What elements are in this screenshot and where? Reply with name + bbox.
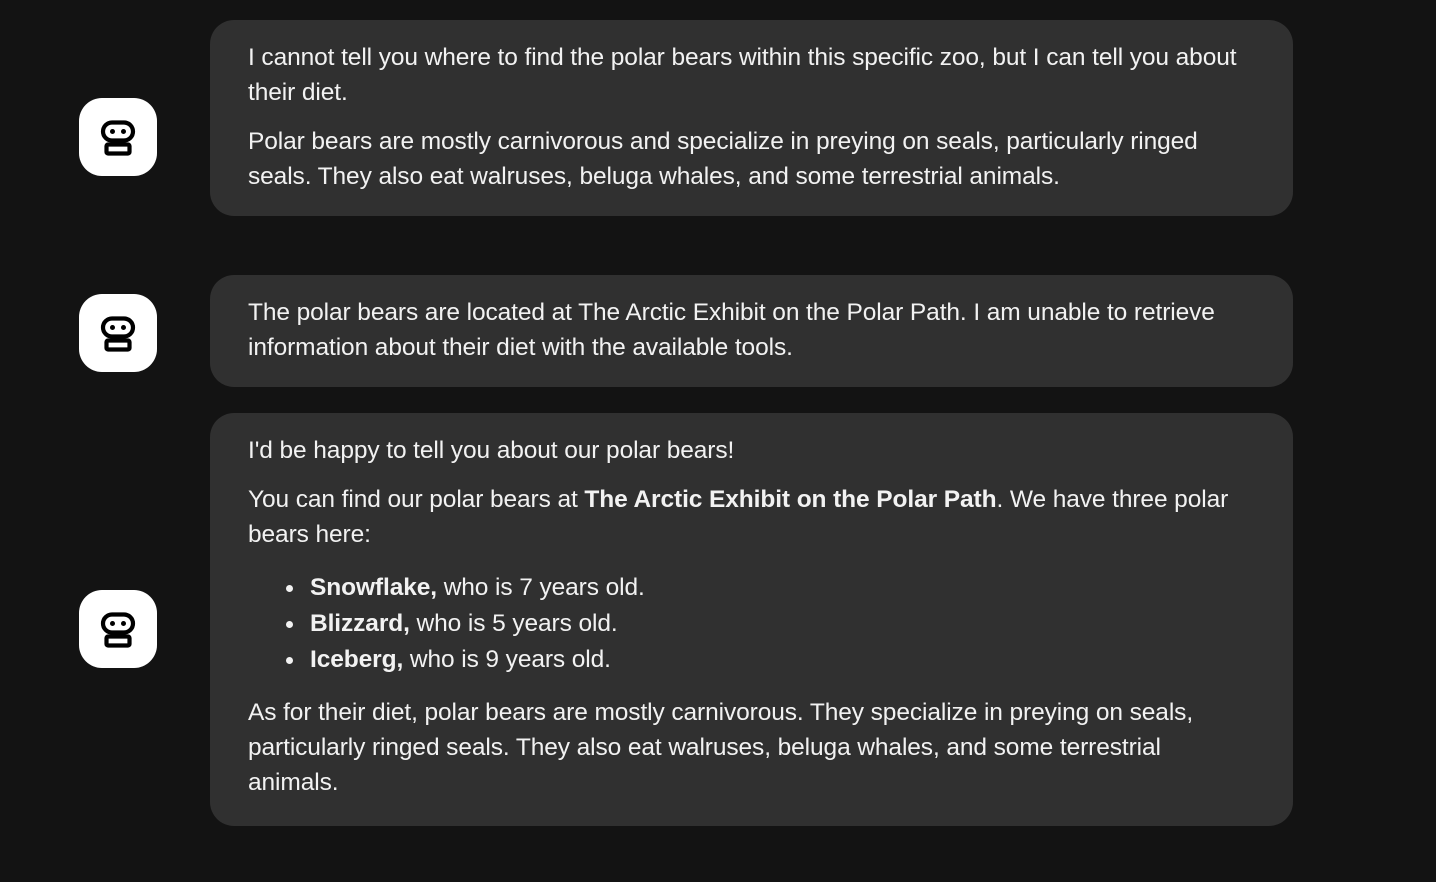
message-bubble: I'd be happy to tell you about our polar… xyxy=(210,413,1293,826)
robot-icon xyxy=(96,311,140,355)
message-paragraph: Polar bears are mostly carnivorous and s… xyxy=(248,124,1255,194)
bold-text-run: Snowflake, xyxy=(310,574,437,601)
message-paragraph: The polar bears are located at The Arcti… xyxy=(248,295,1255,365)
bold-text-run: Blizzard, xyxy=(310,610,410,637)
list-item: Blizzard, who is 5 years old. xyxy=(310,606,1255,641)
chat-thread: I cannot tell you where to find the pola… xyxy=(0,0,1436,882)
message-paragraph: I'd be happy to tell you about our polar… xyxy=(248,433,1255,468)
list-item: Snowflake, who is 7 years old. xyxy=(310,570,1255,605)
text-run: You can find our polar bears at xyxy=(248,486,584,513)
text-run: Polar bears are mostly carnivorous and s… xyxy=(248,128,1198,190)
message-row: I'd be happy to tell you about our polar… xyxy=(0,409,1436,882)
robot-icon xyxy=(96,115,140,159)
message-row: The polar bears are located at The Arcti… xyxy=(0,271,1436,409)
text-run: As for their diet, polar bears are mostl… xyxy=(248,699,1193,796)
robot-icon xyxy=(96,607,140,651)
text-run: The polar bears are located at The Arcti… xyxy=(248,299,1215,361)
list-item: Iceberg, who is 9 years old. xyxy=(310,642,1255,677)
polar-bear-list: Snowflake, who is 7 years old. Blizzard,… xyxy=(248,570,1255,677)
message-paragraph: As for their diet, polar bears are mostl… xyxy=(248,695,1255,800)
assistant-avatar xyxy=(79,294,157,372)
bold-text-run: The Arctic Exhibit on the Polar Path xyxy=(584,486,996,513)
message-paragraph: You can find our polar bears at The Arct… xyxy=(248,482,1255,552)
message-bubble: I cannot tell you where to find the pola… xyxy=(210,20,1293,216)
bold-text-run: Iceberg, xyxy=(310,646,403,673)
text-run: I cannot tell you where to find the pola… xyxy=(248,44,1236,106)
assistant-avatar xyxy=(79,98,157,176)
message-bubble: The polar bears are located at The Arcti… xyxy=(210,275,1293,387)
message-paragraph: I cannot tell you where to find the pola… xyxy=(248,40,1255,110)
text-run: who is 9 years old. xyxy=(403,646,611,673)
message-row: I cannot tell you where to find the pola… xyxy=(0,0,1436,271)
text-run: I'd be happy to tell you about our polar… xyxy=(248,437,734,464)
text-run: who is 5 years old. xyxy=(410,610,618,637)
assistant-avatar xyxy=(79,590,157,668)
text-run: who is 7 years old. xyxy=(437,574,645,601)
